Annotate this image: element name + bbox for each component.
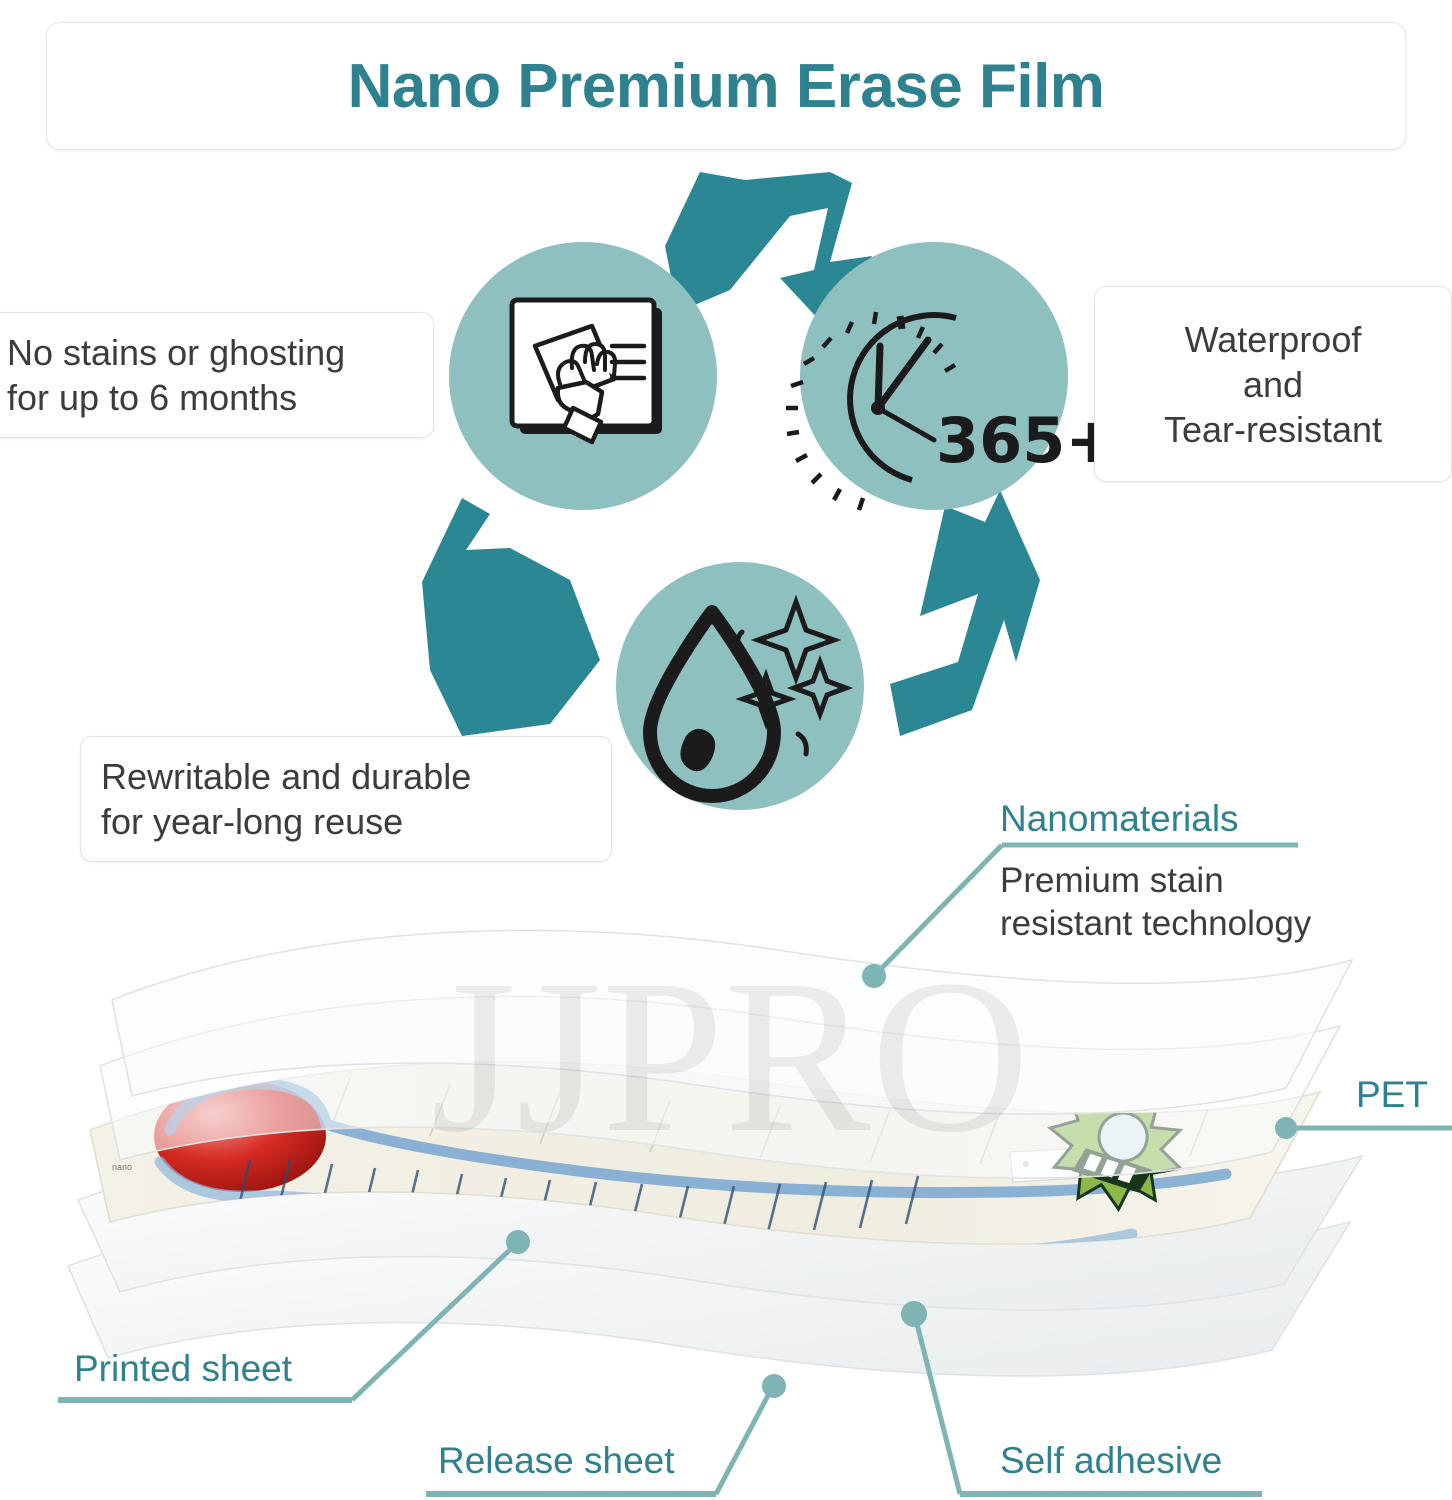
recycle-cycle-graphic: 365+ (400, 150, 1100, 830)
callout-rewritable-line-1: Rewritable and durable (101, 754, 591, 799)
recycle-arrow-left-icon (422, 498, 600, 736)
callout-no-stains-line-2: for up to 6 months (7, 375, 413, 420)
label-nanomaterials-subtitle: Premium stain resistant technology (1000, 860, 1311, 945)
printed-micro-text: nano (112, 1162, 132, 1172)
callout-no-stains-line-1: No stains or ghosting (7, 330, 413, 375)
callout-waterproof-line-3: Tear-resistant (1164, 407, 1382, 452)
recycle-arrow-right-icon (890, 490, 1040, 736)
erase-wipe-icon (512, 300, 662, 442)
label-nanomaterials-subtitle-line-2: resistant technology (1000, 903, 1311, 946)
label-pet: PET (1356, 1074, 1428, 1116)
label-self-adhesive: Self adhesive (1000, 1440, 1222, 1482)
callout-waterproof: Waterproof and Tear-resistant (1094, 286, 1452, 482)
label-nanomaterials: Nanomaterials (1000, 798, 1239, 840)
label-nanomaterials-subtitle-line-1: Premium stain (1000, 860, 1311, 903)
label-printed-sheet: Printed sheet (74, 1348, 292, 1390)
clock-365-label: 365+ (936, 404, 1100, 477)
page-title-box: Nano Premium Erase Film (46, 22, 1406, 150)
callout-waterproof-line-1: Waterproof (1185, 317, 1362, 362)
clock-minute-hand (878, 346, 880, 408)
label-release-sheet: Release sheet (438, 1440, 675, 1482)
callout-no-stains: No stains or ghosting for up to 6 months (0, 312, 434, 438)
page-title: Nano Premium Erase Film (348, 51, 1105, 122)
circle-water-bg (616, 562, 864, 810)
callout-waterproof-line-2: and (1243, 362, 1303, 407)
watermark-text: JJPRO (430, 934, 1029, 1178)
infographic-page: Nano Premium Erase Film (0, 0, 1452, 1500)
